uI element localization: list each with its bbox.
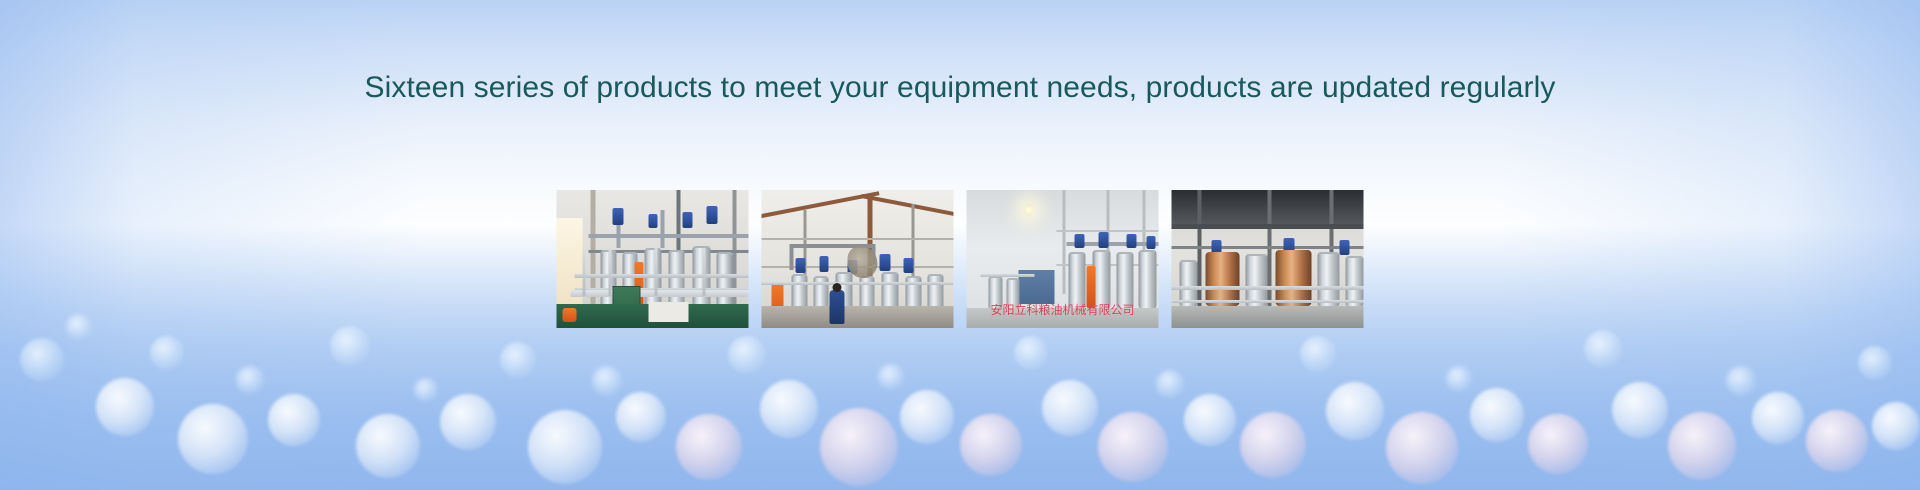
- photo-4-scene: [1172, 190, 1364, 328]
- product-photo-2[interactable]: [762, 190, 954, 328]
- product-photo-1[interactable]: [557, 190, 749, 328]
- promo-banner: Sixteen series of products to meet your …: [0, 0, 1920, 490]
- banner-heading: Sixteen series of products to meet your …: [0, 71, 1920, 105]
- photo-2-scene: [762, 190, 954, 328]
- photo-3-scene: 安阳立科粮油机械有限公司: [967, 190, 1159, 328]
- product-photo-gallery: 安阳立科粮油机械有限公司: [557, 190, 1364, 328]
- product-photo-4[interactable]: [1172, 190, 1364, 328]
- photo-3-watermark: 安阳立科粮油机械有限公司: [967, 304, 1159, 316]
- product-photo-3[interactable]: 安阳立科粮油机械有限公司: [967, 190, 1159, 328]
- photo-1-scene: [557, 190, 749, 328]
